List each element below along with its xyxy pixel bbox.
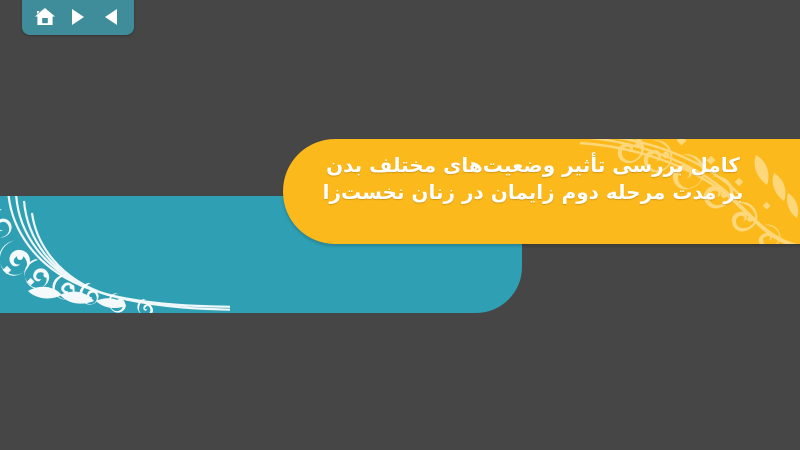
- previous-button[interactable]: [97, 5, 125, 29]
- slide-title: کامل بررسی تأثیر وضعیت‌های مختلف بدن بر …: [283, 152, 783, 206]
- title-line-1: کامل بررسی تأثیر وضعیت‌های مختلف بدن: [283, 152, 783, 179]
- triangle-right-icon: [70, 8, 86, 26]
- home-button[interactable]: [31, 5, 59, 29]
- presentation-slide: کامل بررسی تأثیر وضعیت‌های مختلف بدن بر …: [0, 0, 800, 450]
- home-icon: [34, 7, 56, 27]
- next-button[interactable]: [64, 5, 92, 29]
- navigation-bar: [22, 0, 134, 35]
- triangle-left-icon: [103, 8, 119, 26]
- title-line-2: بر مدت مرحله دوم زایمان در زنان نخست‌زا: [283, 179, 783, 206]
